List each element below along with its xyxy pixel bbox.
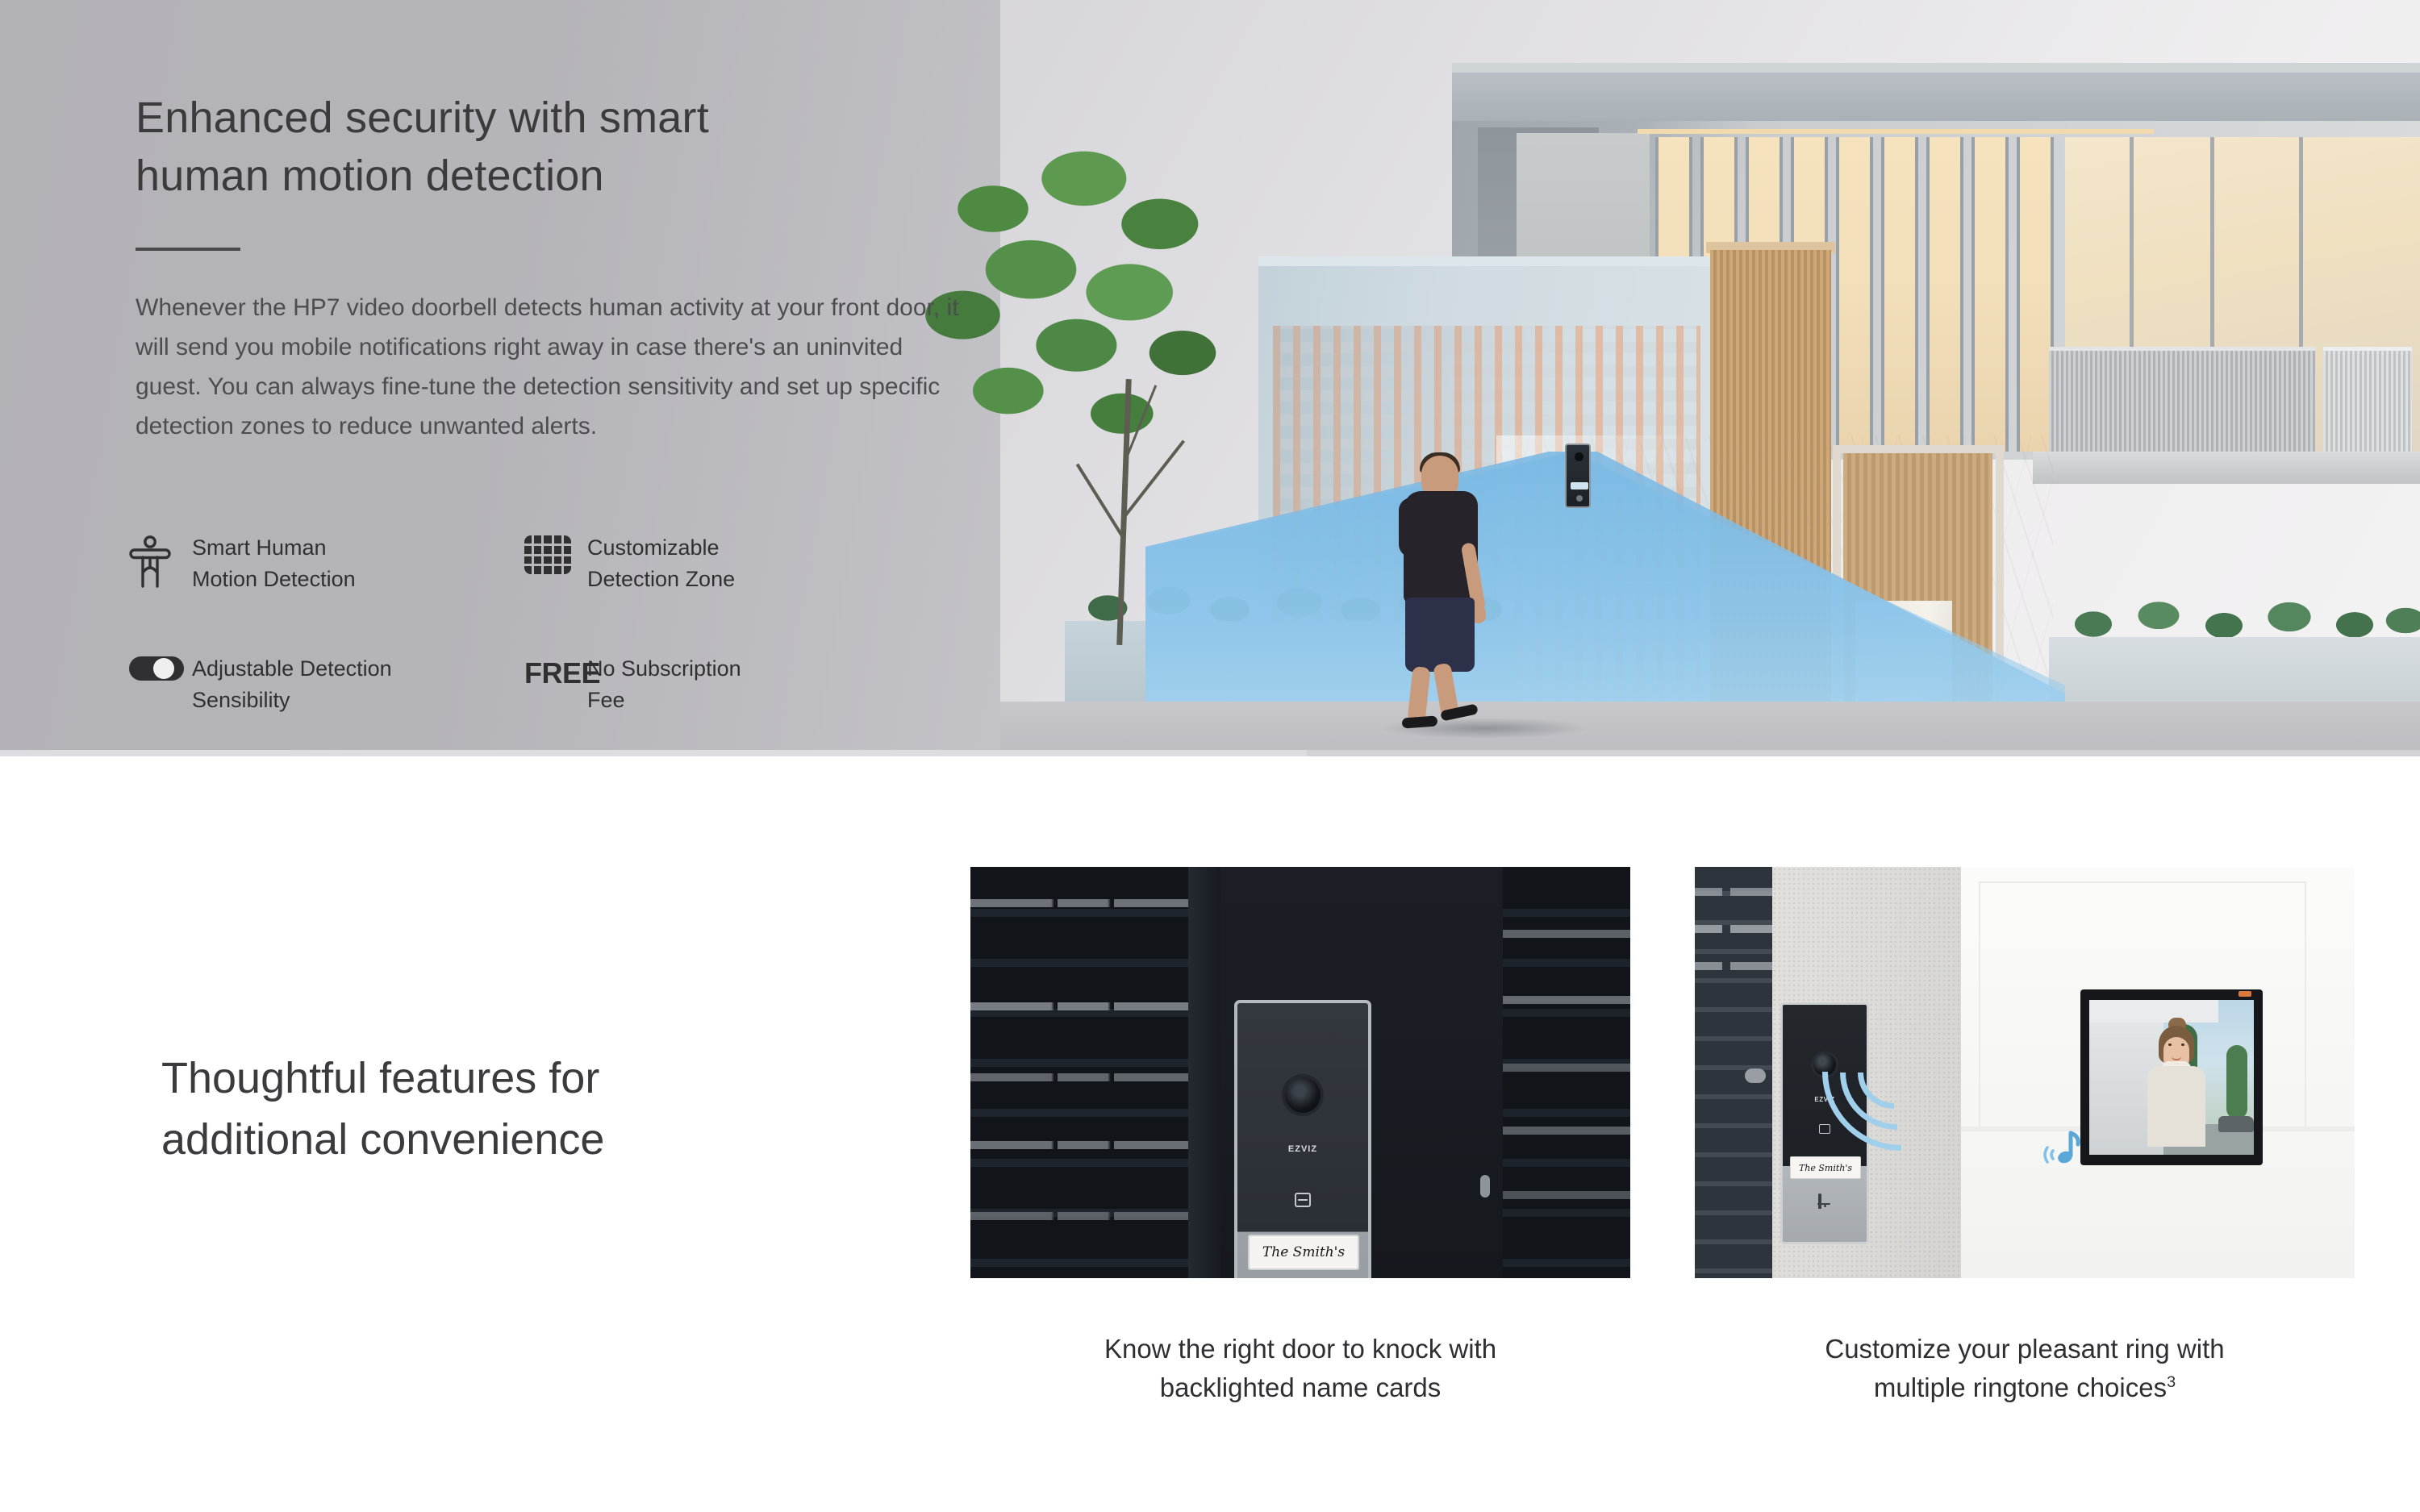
- brand-logo: EZVIZ: [1288, 1144, 1317, 1154]
- parked-car: [2218, 1116, 2254, 1132]
- hero-copy: Enhanced security with smarthuman motion…: [136, 89, 991, 446]
- feature-item-customizable-detection-zone: Customizable Detection Zone: [524, 532, 735, 595]
- feature-label-line1: No Subscription: [587, 656, 741, 681]
- card-caption: Customize your pleasant ring with multip…: [1695, 1330, 2355, 1407]
- feature-label: No Subscription Fee: [587, 653, 741, 716]
- doorbell-button: [1576, 495, 1583, 502]
- detection-grid-icon: [524, 532, 587, 574]
- gate-handle: [1480, 1175, 1490, 1198]
- hero-illustration: [1000, 0, 2420, 756]
- feature-label: Smart Human Motion Detection: [192, 532, 356, 595]
- name-card-photo: EZVIZ The Smith's: [970, 867, 1630, 1278]
- camera-lens-icon: [1285, 1077, 1321, 1113]
- gate-slat-highlights-right: [1503, 867, 1630, 1278]
- gate-slat-highlights: [970, 867, 1212, 1278]
- soffit-glow: [1638, 129, 2154, 134]
- indoor-monitor[interactable]: [2080, 989, 2263, 1165]
- feature-label-line1: Smart Human: [192, 535, 327, 560]
- tree: [2226, 1045, 2247, 1119]
- person-sleeve: [1399, 498, 1426, 557]
- caption-footnote-marker: 3: [2167, 1373, 2176, 1391]
- feature-label: Adjustable Detection Sensibility: [192, 653, 392, 716]
- feature-label-line2: Detection Zone: [587, 567, 735, 591]
- feature-label-line1: Adjustable Detection: [192, 656, 392, 681]
- roof-slab: [1452, 73, 2420, 123]
- section-title-line1: Thoughtful features for: [161, 1054, 599, 1102]
- ground-plane: [1000, 702, 2420, 756]
- window-strip: [1926, 137, 1963, 452]
- feature-item-no-subscription-fee: FREE No Subscription Fee: [524, 653, 741, 716]
- balcony-railing: [2323, 347, 2412, 456]
- backlit-name-card: The Smith's: [1248, 1235, 1359, 1270]
- feature-row: Smart Human Motion Detection Customizabl…: [129, 532, 984, 595]
- monitor-screen: [2089, 1000, 2254, 1155]
- feature-label-line2: Fee: [587, 688, 625, 712]
- rfid-card-icon: [1819, 1124, 1830, 1134]
- hero-heading-line2: human motion detection: [136, 152, 604, 200]
- window-strip: [1971, 137, 2009, 452]
- caption-line1: Customize your pleasant ring with: [1825, 1334, 2224, 1364]
- person-leg: [1407, 666, 1430, 724]
- feature-label-line1: Customizable: [587, 535, 720, 560]
- feature-label-line2: Motion Detection: [192, 567, 356, 591]
- caption-line1: Know the right door to knock with: [1104, 1334, 1496, 1364]
- feature-card-name-cards: EZVIZ The Smith's Know the right door to…: [970, 867, 1630, 1407]
- human-motion-icon: [129, 532, 192, 589]
- doorbell-bell-icon: [1818, 1195, 1831, 1210]
- title-divider: [136, 248, 240, 251]
- feature-label-line2: Sensibility: [192, 688, 290, 712]
- caption-line2: multiple ringtone choices: [1874, 1372, 2167, 1402]
- window-strip: [1836, 137, 1873, 452]
- feature-label: Customizable Detection Zone: [587, 532, 735, 595]
- feature-list: Smart Human Motion Detection Customizabl…: [129, 532, 984, 756]
- toggle-knob: [153, 658, 174, 679]
- feature-item-adjustable-detection-sensibility: Adjustable Detection Sensibility: [129, 653, 524, 716]
- card-caption: Know the right door to knock with backli…: [970, 1330, 1630, 1407]
- toggle-track: [129, 656, 184, 681]
- rfid-card-icon: [1295, 1193, 1311, 1207]
- balcony-slab: [2033, 452, 2420, 484]
- page-title: Enhanced security with smarthuman motion…: [136, 89, 991, 206]
- doorbell-device-hero: [1565, 444, 1591, 508]
- free-badge-icon: FREE: [524, 653, 587, 690]
- section-title-line2: additional convenience: [161, 1115, 604, 1164]
- name-card-text: The Smith's: [1799, 1163, 1852, 1173]
- hero-bottom-band-right: [1307, 750, 2420, 756]
- toggle-switch-icon: [129, 653, 192, 681]
- feature-row: Adjustable Detection Sensibility FREE No…: [129, 653, 984, 716]
- visitor-eye: [2181, 1043, 2184, 1046]
- doorbell-device: EZVIZ The Smith's: [1234, 1000, 1371, 1278]
- hero-heading-line1: Enhanced security with smart: [136, 94, 709, 142]
- person-sandal: [1402, 715, 1438, 728]
- balcony-railing: [2049, 347, 2315, 456]
- walking-person: [1371, 456, 1508, 734]
- section-title: Thoughtful features for additional conve…: [161, 1048, 823, 1170]
- hero-section: Enhanced security with smarthuman motion…: [0, 0, 2420, 756]
- person-shorts: [1405, 598, 1475, 672]
- caption-line2: backlighted name cards: [1160, 1372, 1442, 1402]
- backlit-name-card: The Smith's: [1790, 1156, 1861, 1179]
- visitor-eye: [2168, 1043, 2172, 1046]
- grid-cells: [524, 535, 571, 574]
- gate-knob: [1745, 1068, 1766, 1083]
- gate-post: [1188, 867, 1220, 1278]
- hero-paragraph: Whenever the HP7 video doorbell detects …: [136, 288, 966, 447]
- window-strip: [1881, 137, 1918, 452]
- visitor-on-screen: [2139, 1026, 2213, 1147]
- name-card-panel: [1571, 482, 1588, 489]
- porch-roof: [2089, 1000, 2218, 1023]
- feature-card-ringtones: EZVIZ The Smith's: [1695, 867, 2355, 1407]
- name-card-text: The Smith's: [1262, 1244, 1345, 1260]
- ringtone-photo: EZVIZ The Smith's: [1695, 867, 2355, 1278]
- monitor-indicator: [2238, 991, 2251, 997]
- visitor-body: [2147, 1066, 2205, 1147]
- feature-item-smart-human-motion-detection: Smart Human Motion Detection: [129, 532, 524, 595]
- camera-lens-icon: [1575, 452, 1583, 461]
